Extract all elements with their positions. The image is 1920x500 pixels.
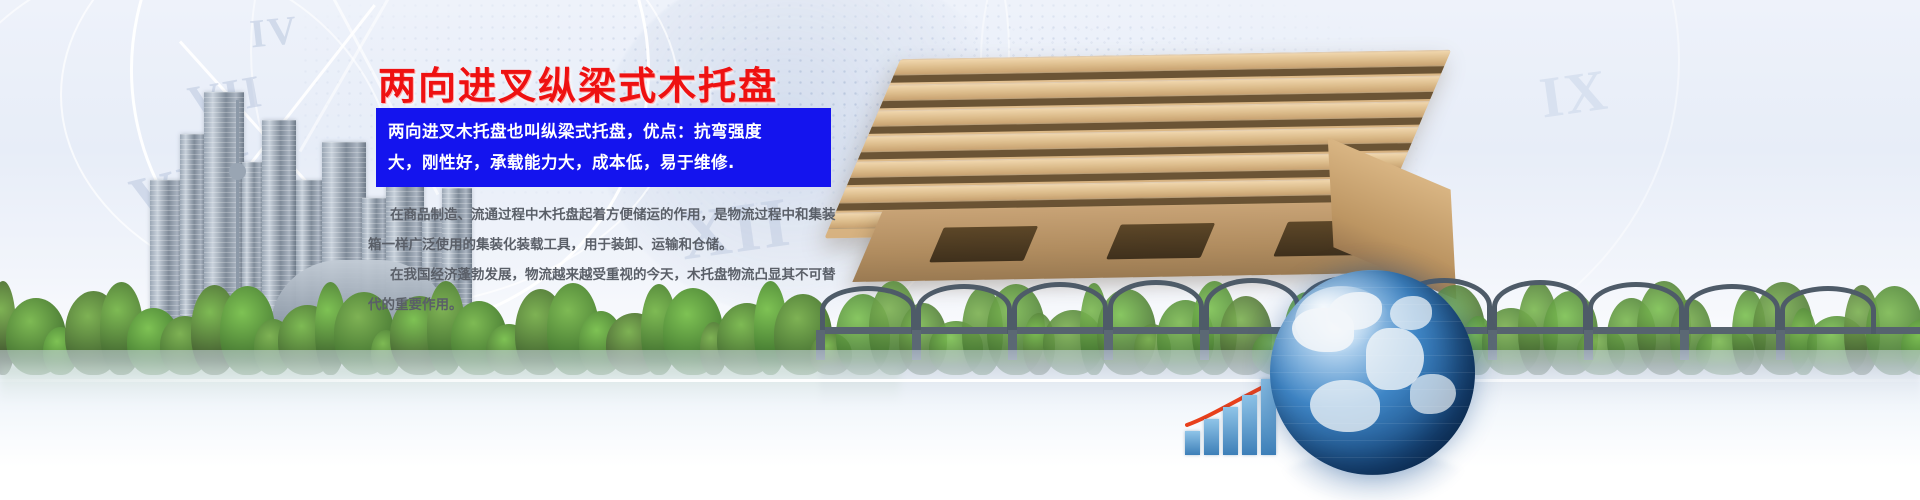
promo-banner: VIII VII XII IV IX IPPC HT 两向进叉纵梁式木托盘 两向 — [0, 0, 1920, 500]
description-paragraph-2: 在我国经济蓬勃发展，物流越来越受重视的今天，木托盘物流凸显其不可替代的重要作用。 — [368, 260, 843, 320]
chart-bar — [1223, 407, 1238, 455]
bridge-arch — [1012, 282, 1108, 334]
bridge-arch — [1684, 284, 1780, 334]
page-title: 两向进叉纵梁式木托盘 — [378, 55, 778, 110]
bridge-arch — [1108, 280, 1204, 334]
bridge-arch — [916, 284, 1012, 334]
chart-bar — [1204, 419, 1219, 455]
description-paragraph-1: 在商品制造、流通过程中木托盘起着方便储运的作用，是物流过程中和集装箱一样广泛使用… — [368, 200, 843, 260]
chart-bar — [1185, 431, 1200, 455]
roman-numeral-5: IX — [1536, 56, 1613, 132]
description-text: 在商品制造、流通过程中木托盘起着方便储运的作用，是物流过程中和集装箱一样广泛使用… — [368, 200, 843, 320]
water-reflection-icon — [0, 350, 1920, 500]
globe-landmass — [1310, 380, 1380, 432]
globe-icon — [1270, 270, 1475, 475]
roman-numeral-4: IV — [248, 6, 301, 58]
bridge-arch — [1492, 280, 1588, 334]
chart-bar — [1242, 395, 1257, 455]
globe-landmass — [1390, 296, 1432, 330]
highlight-line-1: 两向进叉木托盘也叫纵梁式托盘，优点：抗弯强度 — [388, 116, 821, 147]
tower-sphere — [229, 163, 246, 180]
highlight-callout-box: 两向进叉木托盘也叫纵梁式托盘，优点：抗弯强度 大，刚性好，承载能力大，成本低，易… — [376, 108, 831, 187]
bridge-arch — [1588, 282, 1684, 334]
highlight-line-2: 大，刚性好，承载能力大，成本低，易于维修. — [388, 147, 821, 178]
water-horizon-line — [0, 379, 1920, 382]
bridge-arch — [1780, 286, 1876, 334]
